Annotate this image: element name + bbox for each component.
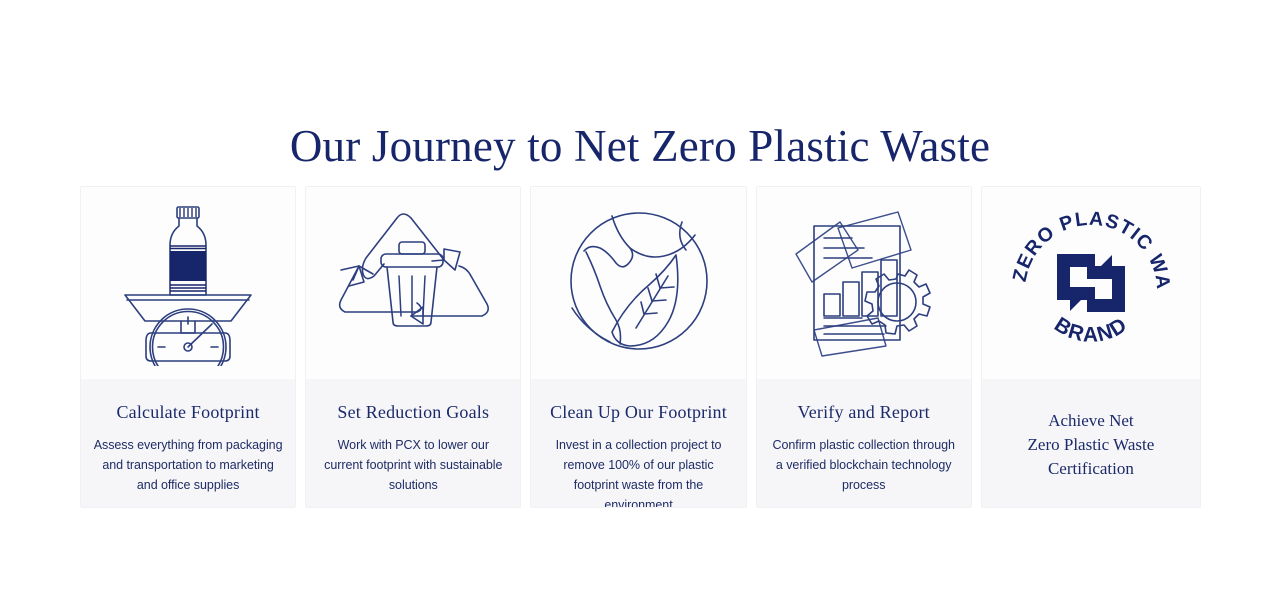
card-caption-line-3: Certification <box>1048 459 1134 478</box>
journey-card-row: Calculate Footprint Assess everything fr… <box>80 186 1201 508</box>
card-text-area: Calculate Footprint Assess everything fr… <box>81 379 295 507</box>
recycling-arrows-trash-bin-icon <box>331 208 495 358</box>
card-text-area: Set Reduction Goals Work with PCX to low… <box>306 379 520 507</box>
journey-card-calculate-footprint[interactable]: Calculate Footprint Assess everything fr… <box>80 186 296 508</box>
journey-card-set-reduction-goals[interactable]: Set Reduction Goals Work with PCX to low… <box>305 186 521 508</box>
globe-with-leaf-icon <box>564 208 714 358</box>
card-heading: Verify and Report <box>769 401 959 423</box>
card-caption-line-2: Zero Plastic Waste <box>1028 435 1155 454</box>
card-description: Confirm plastic collection through a ver… <box>769 435 959 495</box>
weighing-scale-with-bottle-icon <box>113 201 263 366</box>
net-zero-plastic-waste-brand-badge: NET ZERO PLASTIC WASTE BRAND <box>1007 199 1175 367</box>
card-icon-area: NET ZERO PLASTIC WASTE BRAND <box>982 187 1200 379</box>
journey-card-clean-up-our-footprint[interactable]: Clean Up Our Footprint Invest in a colle… <box>530 186 746 508</box>
card-caption: Achieve Net Zero Plastic Waste Certifica… <box>994 401 1188 481</box>
card-icon-area <box>81 187 295 379</box>
page-title: Our Journey to Net Zero Plastic Waste <box>0 118 1280 174</box>
card-text-area: Achieve Net Zero Plastic Waste Certifica… <box>982 379 1200 507</box>
card-caption-line-1: Achieve Net <box>1048 411 1133 430</box>
card-heading: Clean Up Our Footprint <box>543 401 733 423</box>
card-description: Assess everything from packaging and tra… <box>93 435 283 495</box>
svg-text:BRAND: BRAND <box>1050 313 1132 347</box>
journey-card-achieve-certification[interactable]: NET ZERO PLASTIC WASTE BRAND <box>981 186 1201 508</box>
badge-bottom-text: BRAND <box>1050 313 1132 347</box>
card-description: Invest in a collection project to remove… <box>543 435 733 508</box>
card-icon-area <box>531 187 745 379</box>
card-heading: Set Reduction Goals <box>318 401 508 423</box>
card-description: Work with PCX to lower our current footp… <box>318 435 508 495</box>
card-heading: Calculate Footprint <box>93 401 283 423</box>
journey-card-verify-and-report[interactable]: Verify and Report Confirm plastic collec… <box>756 186 972 508</box>
recycling-brackets-logo <box>1057 254 1125 312</box>
card-text-area: Clean Up Our Footprint Invest in a colle… <box>531 379 745 508</box>
reports-with-gear-icon <box>786 206 941 361</box>
card-icon-area <box>757 187 971 379</box>
page-root: Our Journey to Net Zero Plastic Waste <box>0 0 1280 607</box>
card-icon-area <box>306 187 520 379</box>
card-text-area: Verify and Report Confirm plastic collec… <box>757 379 971 507</box>
